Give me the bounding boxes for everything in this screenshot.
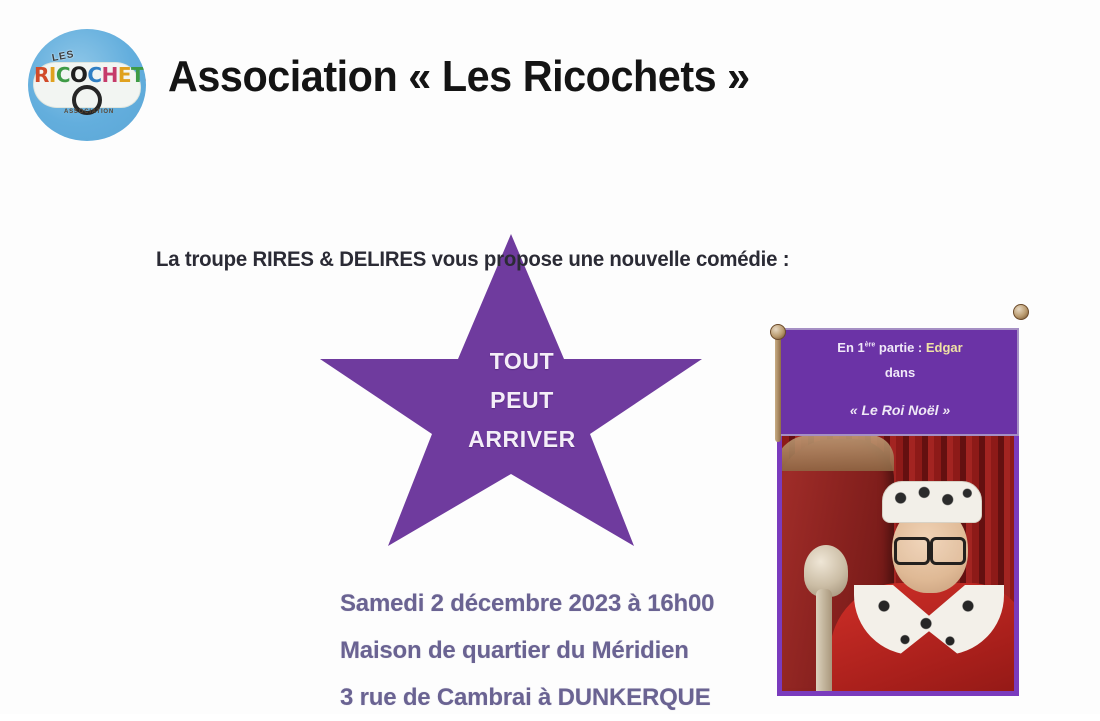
ermine-crown-icon — [882, 481, 982, 523]
page-title: Association « Les Ricochets » — [168, 52, 750, 102]
logo-letter: I — [49, 65, 56, 85]
opening-act-show-title: « Le Roi Noël » — [779, 402, 1021, 418]
scepter-icon — [800, 545, 846, 695]
troupe-tagline: La troupe RIRES & DELIRES vous propose u… — [156, 248, 789, 272]
scroll-knob-right-icon — [1013, 304, 1029, 320]
scroll-rod — [775, 330, 781, 442]
logo-letter: E — [118, 65, 131, 85]
opening-act-banner: En 1ère partie : Edgar dans « Le Roi Noë… — [777, 328, 1019, 436]
opening-act-line2: dans — [779, 365, 1021, 380]
logo-letter: C — [87, 65, 101, 85]
opening-act-line1: En 1ère partie : Edgar — [779, 340, 1021, 355]
logo-letter: R — [34, 65, 49, 85]
page-header: LES RICOCHETS ASSOCIATION Association « … — [0, 0, 1100, 170]
scepter-rod — [816, 589, 832, 696]
opening-act-ordinal: ère — [865, 342, 876, 349]
logo-letter: C — [56, 65, 70, 85]
star-icon — [316, 228, 706, 548]
logo-letter: S — [144, 65, 146, 85]
opening-act-artist: Edgar — [926, 340, 963, 355]
opening-act-prefix: En 1 — [837, 340, 864, 355]
event-datetime: Samedi 2 décembre 2023 à 16h00 — [340, 580, 714, 627]
logo-letter: H — [102, 65, 118, 85]
flyer-body: La troupe RIRES & DELIRES vous propose u… — [0, 170, 1100, 714]
logo-sub-word: ASSOCIATION — [54, 109, 124, 115]
opening-act-mid: partie : — [875, 340, 926, 355]
opening-act-poster: En 1ère partie : Edgar dans « Le Roi Noë… — [773, 310, 1023, 714]
logo-main-word: RICOCHETS — [34, 65, 142, 85]
flyer-page: LES RICOCHETS ASSOCIATION Association « … — [0, 0, 1100, 714]
throne-chair-rim — [777, 435, 894, 471]
logo-letter: O — [70, 65, 87, 85]
scroll-knob-left-icon — [770, 324, 786, 340]
glasses-icon — [894, 537, 966, 559]
logo-letter: T — [131, 65, 144, 85]
logo-top-word: LES — [51, 49, 75, 64]
event-venue: Maison de quartier du Méridien — [340, 627, 714, 674]
event-details: Samedi 2 décembre 2023 à 16h00 Maison de… — [340, 580, 714, 721]
association-logo: LES RICOCHETS ASSOCIATION — [28, 29, 146, 141]
purple-star: TOUT PEUT ARRIVER — [316, 228, 706, 548]
king-photo — [777, 428, 1019, 696]
